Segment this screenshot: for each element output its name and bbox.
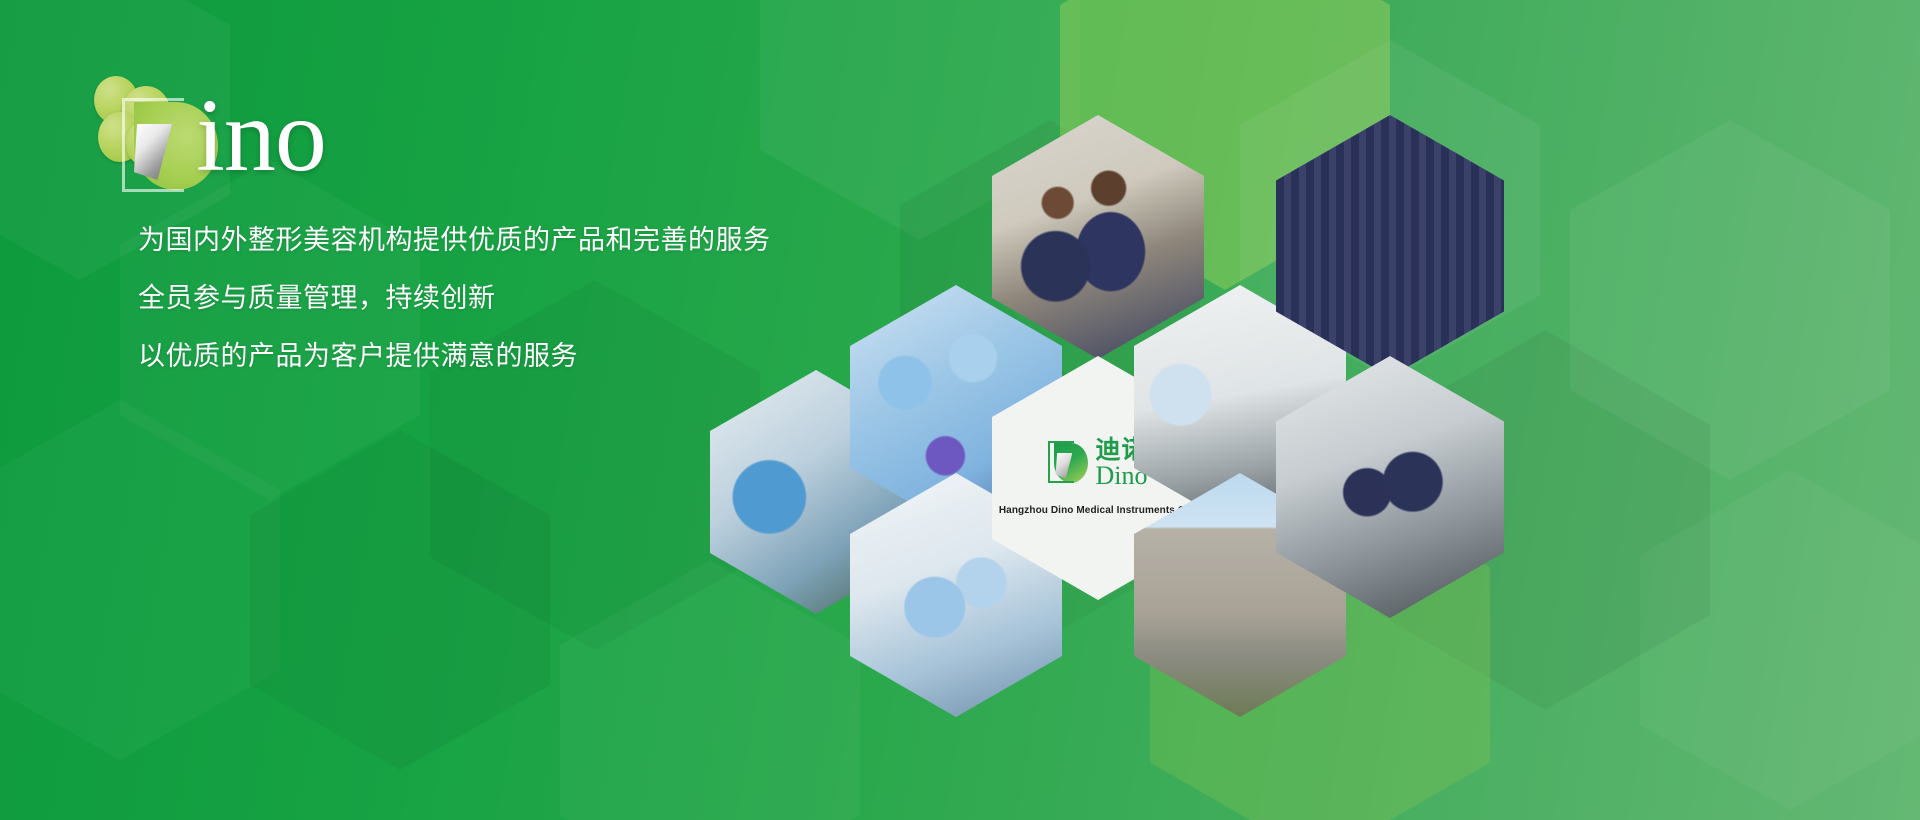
d-frame: [1048, 441, 1074, 483]
logo-wordmark: ino: [196, 84, 326, 188]
slogan-block: 为国内外整形美容机构提供优质的产品和完善的服务 全员参与质量管理，持续创新 以优…: [138, 212, 771, 386]
dino-logo: ino: [92, 68, 452, 188]
hero-banner: ino 为国内外整形美容机构提供优质的产品和完善的服务 全员参与质量管理，持续创…: [0, 0, 1920, 820]
slogan-line-1: 为国内外整形美容机构提供优质的产品和完善的服务: [138, 212, 771, 270]
d-frame: [122, 98, 184, 192]
slogan-line-2: 全员参与质量管理，持续创新: [138, 270, 771, 328]
company-name: Hangzhou Dino Medical Instruments Co..: [999, 505, 1197, 516]
hexagon-photo-collage: 迪诺® Dino Hangzhou Dino Medical Instrumen…: [820, 120, 1920, 700]
dino-d-mark-icon: [1048, 441, 1088, 485]
photo-hexagon-meeting: [992, 115, 1204, 359]
center-logo: 迪诺® Dino: [1048, 437, 1147, 489]
photo-image: [992, 115, 1204, 359]
slogan-line-3: 以优质的产品为客户提供满意的服务: [138, 328, 771, 386]
